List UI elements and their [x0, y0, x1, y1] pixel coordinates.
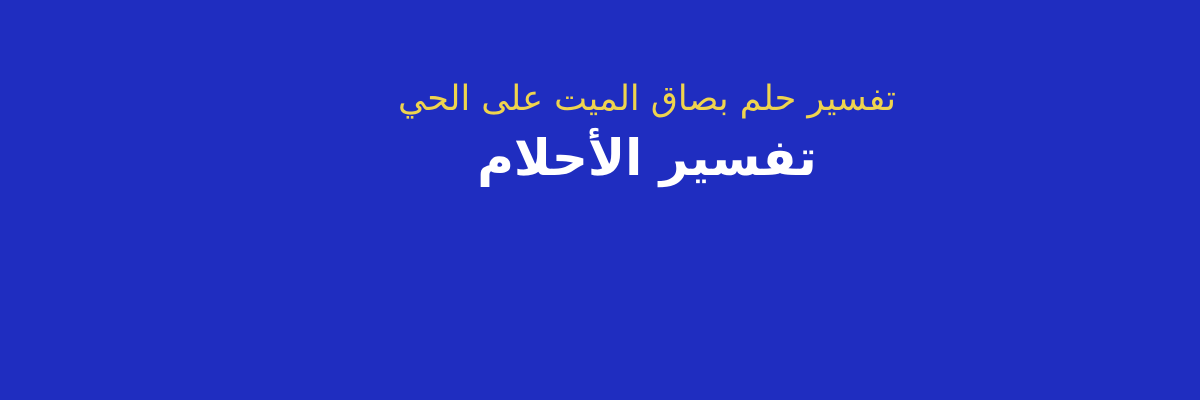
banner-subtitle: تفسير حلم بصاق الميت على الحي	[398, 78, 896, 121]
banner-text-stack: تفسير حلم بصاق الميت على الحي تفسير الأح…	[0, 78, 1200, 188]
banner-title: تفسير الأحلام	[477, 129, 817, 188]
dream-interpretation-banner: تفسير حلم بصاق الميت على الحي تفسير الأح…	[0, 0, 1200, 400]
